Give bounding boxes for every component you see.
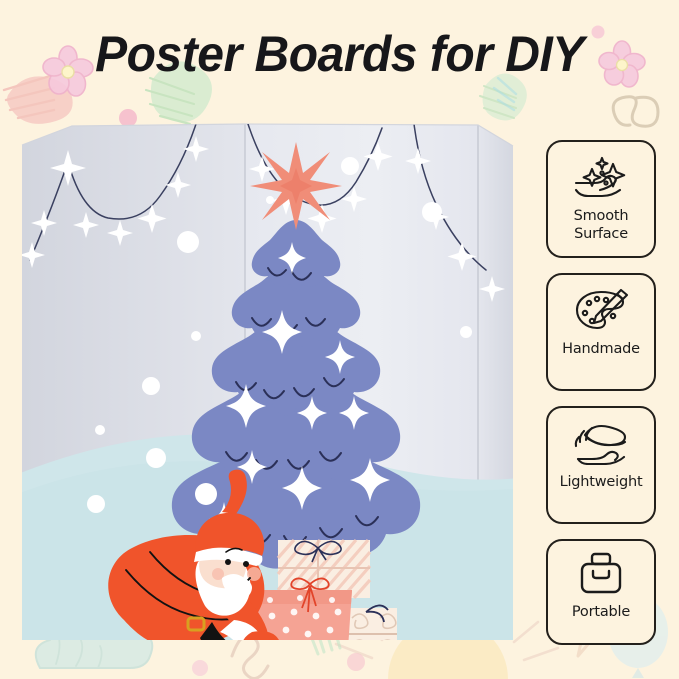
feature-label-line1: Smooth [574, 208, 629, 224]
feature-label-line1: Handmade [562, 341, 640, 357]
title-block: Poster Boards for DIY [0, 14, 679, 94]
feature-card-handmade[interactable]: Handmade [546, 273, 656, 391]
feature-label-line1: Lightweight [560, 474, 643, 490]
feature-label-line1: Portable [572, 604, 630, 620]
feature-card-lightweight[interactable]: Lightweight [546, 406, 656, 524]
sparkle-hand-icon [572, 153, 630, 203]
feature-card-list: Smooth Surface Handmade [546, 140, 662, 640]
page-title: Poster Boards for DIY [14, 14, 666, 94]
pink-dot-doodle-4 [347, 653, 365, 671]
pink-dot-doodle-3 [192, 660, 208, 676]
briefcase-icon [578, 550, 624, 596]
poster-board-scene [0, 100, 520, 640]
poster-product-image: Poster Boards for DIY [0, 0, 679, 679]
feather-hand-icon [572, 419, 630, 469]
loop-squiggle-doodle-top [613, 97, 658, 126]
santa-hat-pompom [195, 483, 217, 505]
feature-card-label: Portable [572, 603, 630, 621]
feature-card-label: Handmade [562, 340, 640, 358]
paint-palette-icon [573, 286, 629, 336]
feature-card-smooth-surface[interactable]: Smooth Surface [546, 140, 656, 258]
feature-card-label: Lightweight [560, 473, 643, 491]
feature-label-line2: Surface [574, 226, 628, 242]
feature-card-label: Smooth Surface [574, 207, 629, 243]
feature-card-portable[interactable]: Portable [546, 539, 656, 645]
loop-squiggle-doodle-bottom [232, 635, 268, 678]
